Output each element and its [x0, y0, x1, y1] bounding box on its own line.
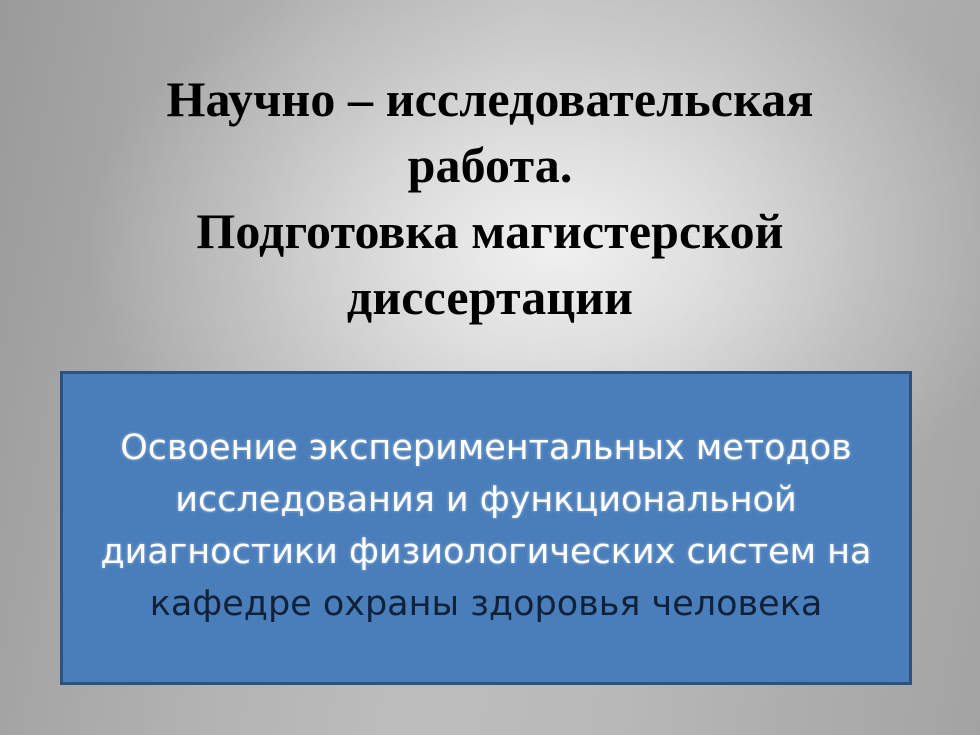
title-line-3: Подготовка магистерской [62, 198, 918, 264]
content-line-1: Освоение экспериментальных методов [63, 422, 909, 474]
content-callout-box: Освоение экспериментальных методов иссле… [60, 371, 912, 685]
content-line-3: диагностики физиологических систем на [63, 526, 909, 578]
presentation-slide: Научно – исследовательская работа. Подго… [0, 0, 980, 735]
content-line-2: исследования и функциональной [63, 474, 909, 526]
slide-title: Научно – исследовательская работа. Подго… [62, 66, 918, 330]
content-line-4: кафедре охраны здоровья человека [63, 578, 909, 630]
title-line-1: Научно – исследовательская [62, 66, 918, 132]
content-text-block: Освоение экспериментальных методов иссле… [63, 422, 909, 634]
title-line-4: диссертации [62, 264, 918, 330]
title-line-2: работа. [62, 132, 918, 198]
